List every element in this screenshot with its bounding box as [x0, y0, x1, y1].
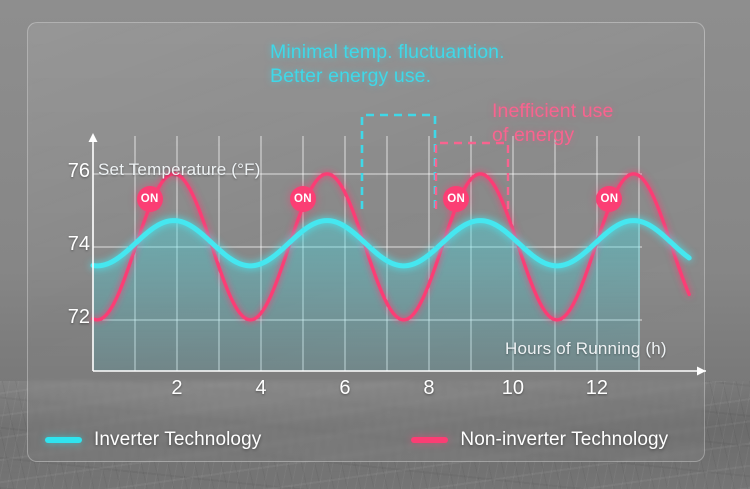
- noninverter-annotation-text: Inefficient use of energy: [492, 100, 613, 148]
- x-axis-title: Hours of Running (h): [505, 339, 667, 359]
- inverter-annotation-text: Minimal temp. fluctuantion. Better energ…: [270, 41, 505, 89]
- x-tick-label: 6: [339, 377, 350, 400]
- on-status-badge: ON: [596, 186, 622, 212]
- legend-swatch-inverter: [45, 437, 82, 443]
- x-tick-label: 10: [502, 377, 524, 400]
- x-tick-label: 4: [255, 377, 266, 400]
- y-tick-label: 72: [44, 306, 90, 329]
- on-status-badge: ON: [443, 186, 469, 212]
- x-tick-label: 8: [423, 377, 434, 400]
- y-axis-tick-labels: 727476: [44, 0, 90, 489]
- chart-legend: Inverter Technology Non-inverter Technol…: [27, 420, 705, 460]
- legend-swatch-noninverter: [411, 437, 448, 443]
- y-axis-title: Set Temperature (°F): [98, 160, 261, 180]
- legend-item-inverter[interactable]: Inverter Technology: [45, 429, 261, 451]
- on-status-badge: ON: [290, 186, 316, 212]
- legend-label-noninverter: Non-inverter Technology: [460, 429, 668, 451]
- x-tick-label: 12: [586, 377, 608, 400]
- legend-item-noninverter[interactable]: Non-inverter Technology: [411, 429, 668, 451]
- infographic-canvas: Minimal temp. fluctuantion. Better energ…: [0, 0, 750, 489]
- x-tick-label: 2: [171, 377, 182, 400]
- y-tick-label: 74: [44, 233, 90, 256]
- on-status-badge: ON: [137, 186, 163, 212]
- y-tick-label: 76: [44, 160, 90, 183]
- legend-label-inverter: Inverter Technology: [94, 429, 261, 451]
